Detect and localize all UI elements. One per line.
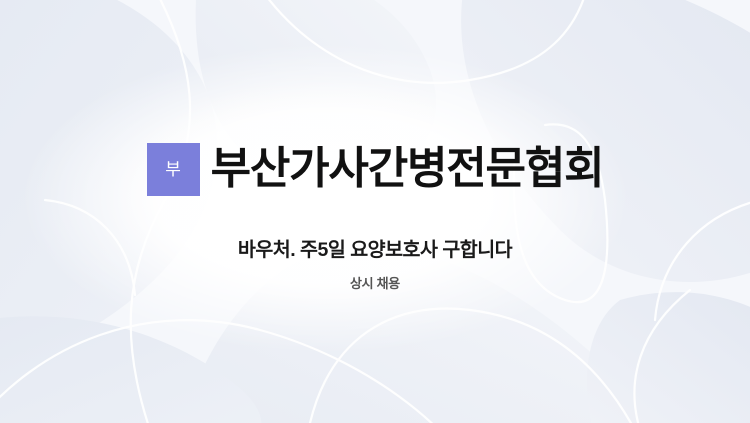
banner-content: 부 부산가사간병전문협회 바우처. 주5일 요양보호사 구합니다 상시 채용 [0,0,750,423]
organization-header: 부 부산가사간병전문협회 [147,139,604,199]
organization-logo-badge: 부 [147,143,200,196]
organization-name: 부산가사간병전문협회 [211,147,604,191]
job-posting-banner: 부 부산가사간병전문협회 바우처. 주5일 요양보호사 구합니다 상시 채용 [0,0,750,423]
hiring-status-label: 상시 채용 [350,277,400,290]
logo-badge-character: 부 [165,161,181,178]
job-title: 바우처. 주5일 요양보호사 구합니다 [238,241,512,261]
